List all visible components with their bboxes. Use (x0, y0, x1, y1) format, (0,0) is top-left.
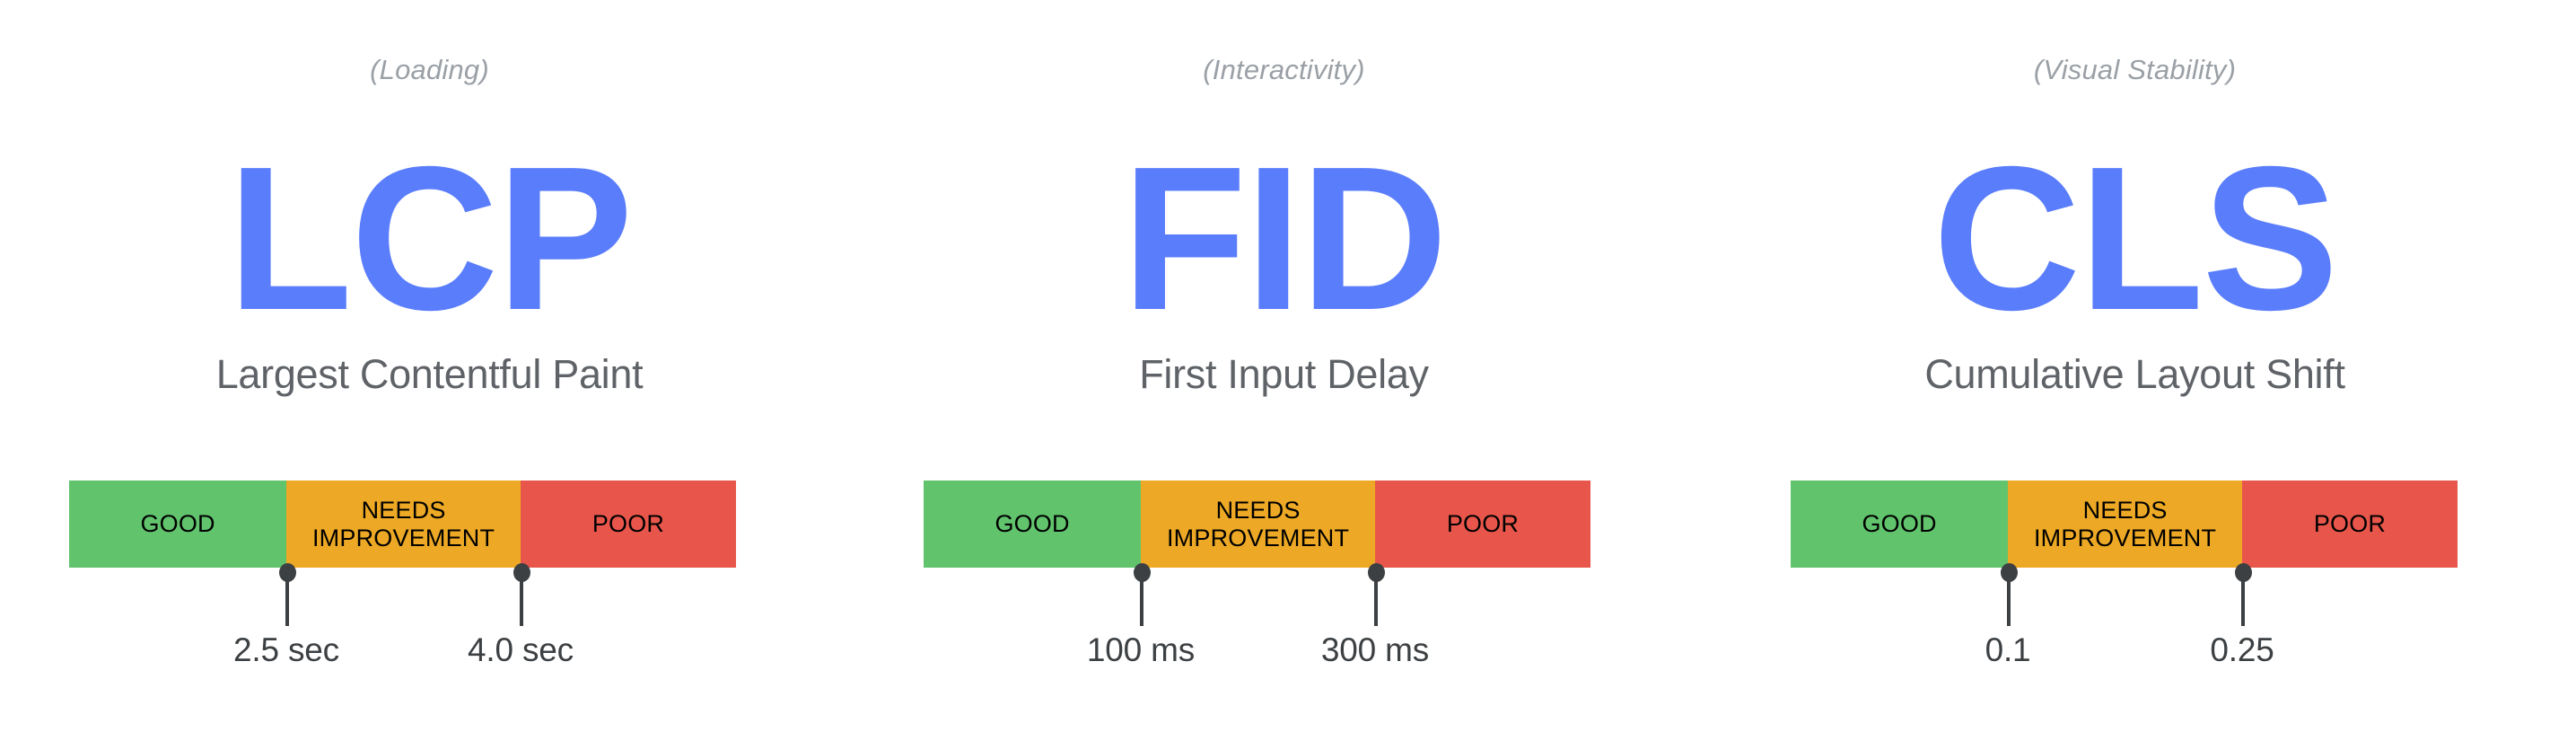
metric-acronym: LCP (0, 137, 859, 341)
threshold-bar: GOOD NEEDS IMPROVEMENT POOR (69, 481, 736, 568)
threshold-bar: GOOD NEEDS IMPROVEMENT POOR (924, 481, 1590, 568)
bar-segment-good-label: GOOD (1862, 510, 1936, 538)
metric-full-name: First Input Delay (854, 348, 1713, 401)
threshold-marker (1141, 563, 1143, 626)
bar-segment-good-label: GOOD (140, 510, 215, 538)
metric-category-caption: (Interactivity) (854, 52, 1713, 88)
metric-acronym: FID (854, 137, 1713, 341)
bar-segment-good: GOOD (924, 481, 1141, 568)
bar-segment-good-label: GOOD (994, 510, 1069, 538)
metric-acronym: CLS (1705, 137, 2564, 341)
threshold-value-label: 100 ms (1006, 629, 1275, 672)
bar-segment-poor: POOR (1375, 481, 1590, 568)
bar-segment-poor: POOR (521, 481, 736, 568)
bar-segment-good: GOOD (1791, 481, 2008, 568)
threshold-value-label: 0.1 (1873, 629, 2142, 672)
metric-panel-lcp: (Loading) LCP Largest Contentful Paint G… (0, 0, 859, 732)
core-web-vitals-infographic: (Loading) LCP Largest Contentful Paint G… (0, 0, 2576, 732)
metric-full-name: Largest Contentful Paint (0, 348, 859, 401)
threshold-value-label: 300 ms (1240, 629, 1510, 672)
threshold-marker (521, 563, 522, 626)
threshold-value-label: 2.5 sec (152, 629, 421, 672)
bar-segment-needs-improvement-label: NEEDS IMPROVEMENT (296, 497, 512, 552)
threshold-bar: GOOD NEEDS IMPROVEMENT POOR (1791, 481, 2458, 568)
metric-panel-cls: (Visual Stability) CLS Cumulative Layout… (1705, 0, 2564, 732)
threshold-stem (2007, 571, 2011, 626)
metric-category-caption: (Visual Stability) (1705, 52, 2564, 88)
threshold-value-label: 4.0 sec (386, 629, 655, 672)
metric-panel-fid: (Interactivity) FID First Input Delay GO… (854, 0, 1713, 732)
bar-segment-needs-improvement: NEEDS IMPROVEMENT (2008, 481, 2242, 568)
threshold-stem (1374, 571, 1378, 626)
bar-segment-needs-improvement-label: NEEDS IMPROVEMENT (1151, 497, 1366, 552)
bar-segment-needs-improvement: NEEDS IMPROVEMENT (1141, 481, 1375, 568)
threshold-stem (2241, 571, 2245, 626)
bar-segment-poor-label: POOR (592, 510, 664, 538)
threshold-stem (520, 571, 523, 626)
metric-category-caption: (Loading) (0, 52, 859, 88)
threshold-marker (1375, 563, 1377, 626)
bar-segment-poor: POOR (2242, 481, 2458, 568)
threshold-value-label: 0.25 (2107, 629, 2377, 672)
threshold-marker (286, 563, 288, 626)
metric-full-name: Cumulative Layout Shift (1705, 348, 2564, 401)
bar-segment-good: GOOD (69, 481, 286, 568)
threshold-marker (2242, 563, 2244, 626)
bar-segment-poor-label: POOR (2314, 510, 2386, 538)
bar-segment-needs-improvement-label: NEEDS IMPROVEMENT (2018, 497, 2233, 552)
threshold-marker (2008, 563, 2010, 626)
bar-segment-needs-improvement: NEEDS IMPROVEMENT (286, 481, 521, 568)
threshold-stem (1140, 571, 1143, 626)
threshold-stem (285, 571, 289, 626)
bar-segment-poor-label: POOR (1447, 510, 1519, 538)
